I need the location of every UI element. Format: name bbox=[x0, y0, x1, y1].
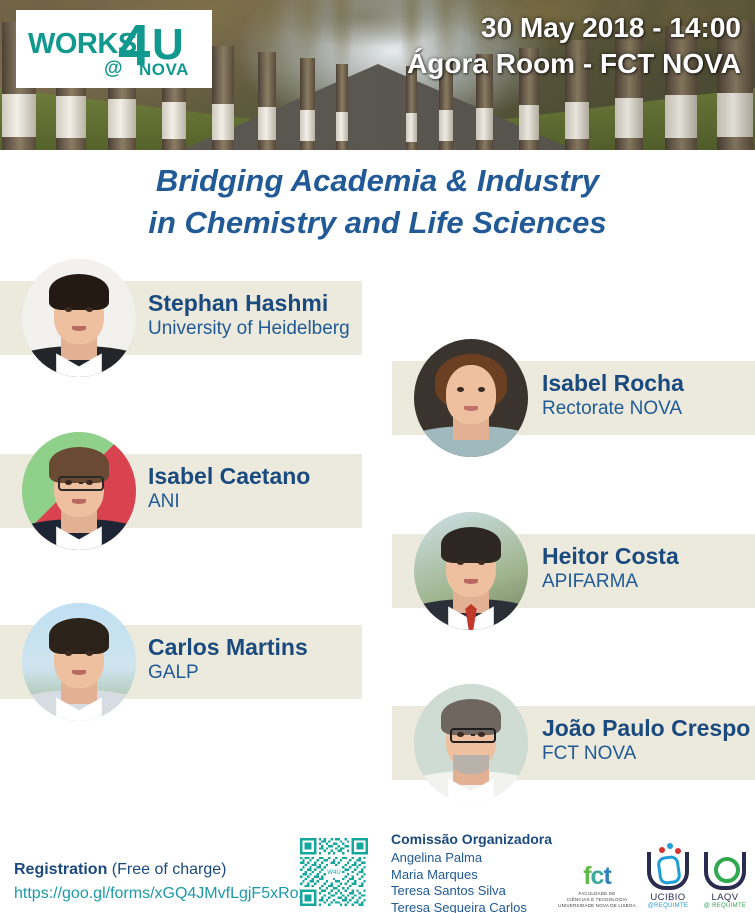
speaker-affiliation: University of Heidelberg bbox=[148, 317, 350, 341]
committee-title: Comissão Organizadora bbox=[391, 831, 552, 847]
event-venue: Ágora Room - FCT NOVA bbox=[407, 46, 741, 82]
laqv-name: LAQV bbox=[700, 892, 750, 903]
registration-line: Registration (Free of charge) bbox=[14, 858, 307, 882]
committee-member: Angelina Palma bbox=[391, 850, 552, 867]
fct-letter-f: f bbox=[583, 862, 590, 890]
speaker-name: Stephan Hashmi bbox=[148, 290, 350, 317]
logo-at-text: @ bbox=[104, 58, 123, 80]
speaker-name: Carlos Martins bbox=[148, 634, 308, 661]
header-banner: WORKS 4 U @ NOVA 30 May 2018 - 14:00 Ágo… bbox=[0, 0, 755, 150]
ucibio-u-icon bbox=[647, 852, 689, 890]
sponsor-logos: fct FACULDADE DE CIÊNCIAS E TECNOLOGIA U… bbox=[558, 843, 750, 909]
speaker-name: Isabel Rocha bbox=[542, 370, 684, 397]
committee-member: Teresa Sequeira Carlos bbox=[391, 900, 552, 913]
speaker-portrait bbox=[22, 259, 136, 377]
fct-subtitle: FACULDADE DE CIÊNCIAS E TECNOLOGIA UNIVE… bbox=[558, 891, 636, 909]
page-title: Bridging Academia & Industry in Chemistr… bbox=[0, 160, 755, 243]
title-line-1: Bridging Academia & Industry bbox=[0, 160, 755, 202]
registration-label: Registration bbox=[14, 861, 107, 878]
speaker-affiliation: APIFARMA bbox=[542, 570, 679, 594]
organizing-committee: Comissão Organizadora Angelina Palma Mar… bbox=[391, 831, 552, 913]
ucibio-dots-icon bbox=[659, 843, 681, 855]
ucibio-sub: @REQUIMTE bbox=[643, 903, 693, 909]
registration-link[interactable]: https://goo.gl/forms/xGQ4JMvfLgjF5xRo2 bbox=[14, 885, 307, 902]
title-line-2: in Chemistry and Life Sciences bbox=[0, 202, 755, 244]
event-datetime-venue: 30 May 2018 - 14:00 Ágora Room - FCT NOV… bbox=[407, 10, 741, 82]
speaker-portrait bbox=[414, 684, 528, 802]
speaker-portrait bbox=[22, 432, 136, 550]
speaker-name: Heitor Costa bbox=[542, 543, 679, 570]
speaker-affiliation: ANI bbox=[148, 490, 310, 514]
registration-note: (Free of charge) bbox=[107, 861, 226, 878]
ucibio-logo: UCIBIO @REQUIMTE bbox=[643, 852, 693, 909]
speaker-affiliation: Rectorate NOVA bbox=[542, 397, 684, 421]
speaker-affiliation: FCT NOVA bbox=[542, 742, 750, 766]
logo-nova-text: NOVA bbox=[139, 60, 189, 80]
fct-letter-t: t bbox=[603, 862, 610, 890]
ucibio-name: UCIBIO bbox=[643, 892, 693, 903]
laqv-sub: @ REQUIMTE bbox=[700, 903, 750, 909]
fct-logo: fct FACULDADE DE CIÊNCIAS E TECNOLOGIA U… bbox=[558, 864, 636, 909]
fct-subtitle-line-3: UNIVERSIDADE NOVA DE LISBOA bbox=[558, 903, 636, 909]
svg-text:W4U: W4U bbox=[327, 869, 341, 876]
committee-member: Teresa Santos Silva bbox=[391, 883, 552, 900]
event-datetime: 30 May 2018 - 14:00 bbox=[407, 10, 741, 46]
speaker-portrait bbox=[22, 603, 136, 721]
event-poster: WORKS 4 U @ NOVA 30 May 2018 - 14:00 Ágo… bbox=[0, 0, 755, 913]
qr-code[interactable]: W4U bbox=[300, 838, 368, 906]
committee-list: Angelina Palma Maria Marques Teresa Sant… bbox=[391, 850, 552, 913]
speaker-portrait bbox=[414, 512, 528, 630]
fct-letter-c: c bbox=[591, 862, 604, 890]
fct-wordmark: fct bbox=[558, 864, 636, 889]
speaker-portrait bbox=[414, 339, 528, 457]
laqv-u-icon bbox=[704, 852, 746, 890]
registration-block: Registration (Free of charge) https://go… bbox=[14, 858, 307, 906]
committee-member: Maria Marques bbox=[391, 867, 552, 884]
speaker-affiliation: GALP bbox=[148, 661, 308, 685]
speaker-name: Isabel Caetano bbox=[148, 463, 310, 490]
speaker-name: João Paulo Crespo bbox=[542, 715, 750, 742]
laqv-logo: LAQV @ REQUIMTE bbox=[700, 852, 750, 909]
works4u-logo: WORKS 4 U @ NOVA bbox=[16, 10, 212, 88]
